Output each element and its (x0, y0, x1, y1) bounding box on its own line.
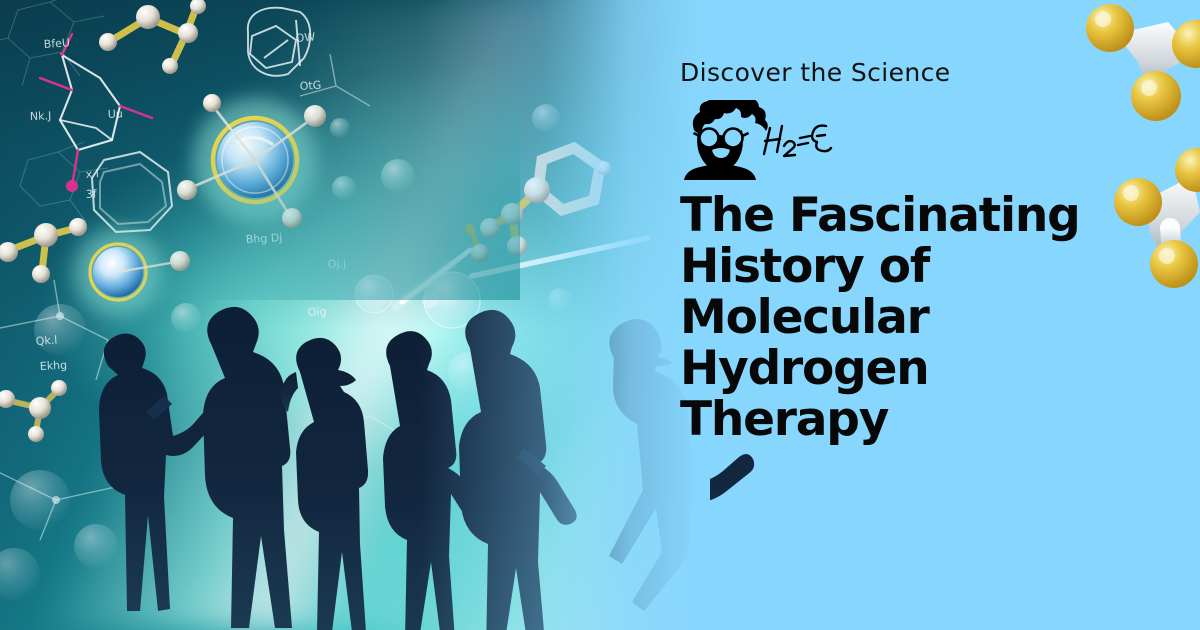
social-share-banner: BfeU Nk.J Uu OW OtG Bhg Dj Qk.l Ekhg Oj.… (0, 0, 1200, 630)
banner-content-column: Discover the Science (680, 0, 1200, 630)
logo-equation (764, 126, 831, 156)
page-title: The Fascinating History of Molecular Hyd… (680, 190, 1100, 445)
einstein-scientist-logo[interactable] (678, 100, 868, 180)
kicker-text: Discover the Science (680, 58, 951, 87)
